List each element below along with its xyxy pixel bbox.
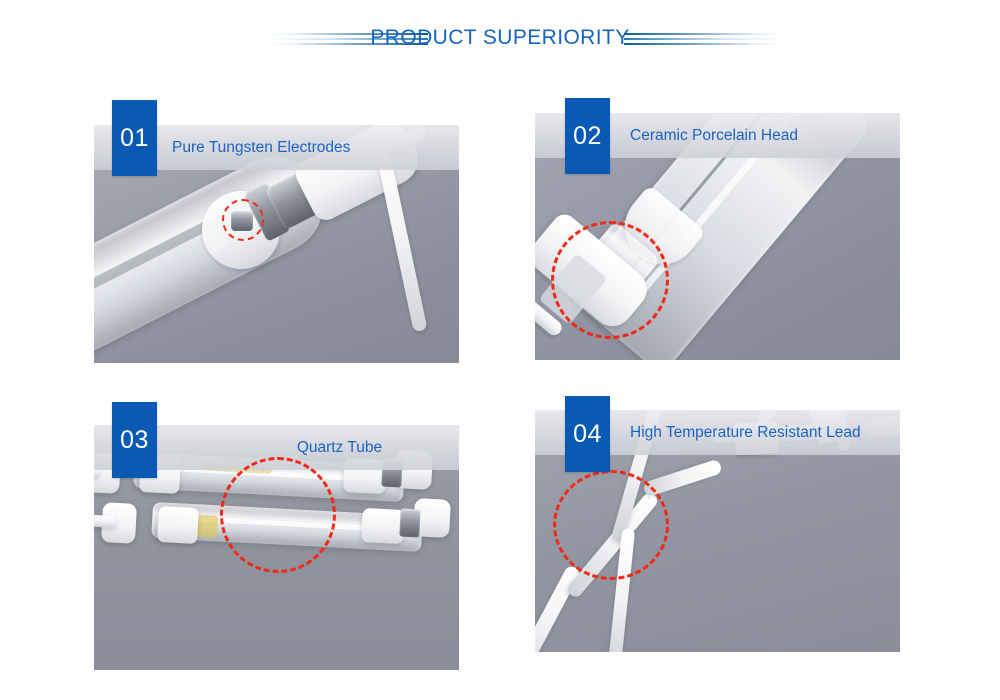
triple-line-rule-right-icon (624, 31, 784, 47)
card-number-01: 01 (120, 126, 149, 151)
caption-text-01: Pure Tungsten Electrodes (172, 139, 537, 157)
caption-text-03: Quartz Tube (157, 439, 522, 457)
page-title: PRODUCT SUPERIORITY (0, 26, 1000, 50)
card-number-04: 04 (573, 422, 602, 447)
card-number-03: 03 (120, 428, 149, 453)
product-superiority-infographic: PRODUCT SUPERIORITY Pure (0, 0, 1000, 700)
card-number-02: 02 (573, 124, 602, 149)
caption-text-02: Ceramic Porcelain Head (630, 127, 995, 145)
card-number-badge-04: 04 (565, 396, 610, 472)
card-number-badge-01: 01 (112, 100, 157, 176)
caption-text-04: High Temperature Resistant Lead (630, 424, 995, 442)
feature-card-01[interactable]: Pure Tungsten Electrodes 01 (94, 100, 459, 363)
highlight-circle-03 (220, 457, 336, 573)
feature-card-04[interactable]: High Temperature Resistant Lead 04 (535, 396, 900, 652)
card-number-badge-02: 02 (565, 98, 610, 174)
page-header: PRODUCT SUPERIORITY (0, 0, 1000, 80)
card-number-badge-03: 03 (112, 402, 157, 478)
feature-card-03[interactable]: Quartz Tube 03 (94, 402, 459, 670)
feature-card-02[interactable]: Ceramic Porcelain Head 02 (535, 98, 900, 360)
highlight-circle-04 (553, 470, 669, 580)
highlight-circle-01 (222, 199, 264, 241)
highlight-circle-02 (551, 221, 669, 339)
